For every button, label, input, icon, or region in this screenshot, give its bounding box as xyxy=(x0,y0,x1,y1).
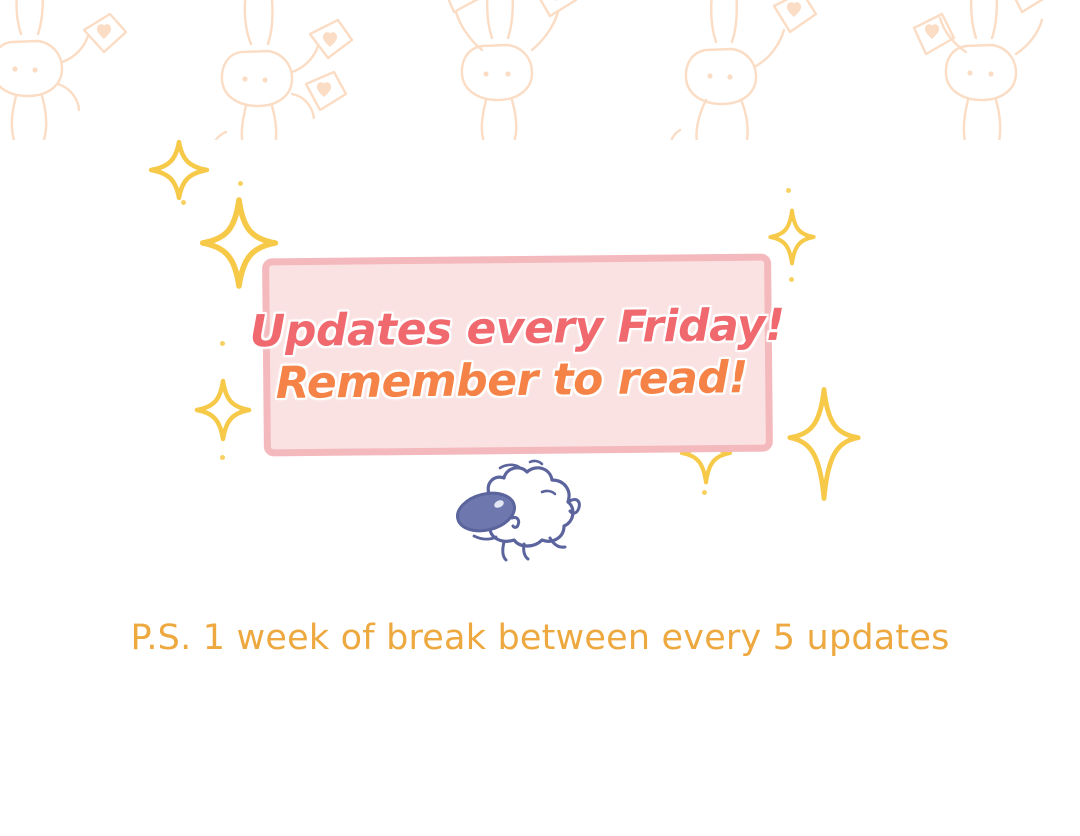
bunny-icon xyxy=(416,0,592,140)
bunny-icon xyxy=(188,0,364,140)
banner-headline-primary: Updates every Friday! xyxy=(249,301,785,358)
sparkle-dot xyxy=(238,181,243,186)
banner-text-group: Updates every Friday! Remember to read! xyxy=(262,253,773,457)
bunny-icon xyxy=(0,0,134,140)
bunny-icon xyxy=(650,0,826,140)
sparkle-dot xyxy=(789,277,794,282)
sparkle-star-icon xyxy=(148,139,210,201)
sparkle-dot xyxy=(220,455,225,460)
sparkle-dot xyxy=(786,188,791,193)
postscript-note: P.S. 1 week of break between every 5 upd… xyxy=(0,618,1080,658)
sparkle-dot xyxy=(181,200,186,205)
announcement-banner: Updates every Friday! Remember to read! xyxy=(263,256,772,454)
sparkle-star-icon xyxy=(194,378,252,442)
sparkle-star-icon xyxy=(768,208,816,266)
bunny-icon xyxy=(896,0,1072,140)
sparkle-dot xyxy=(220,341,225,346)
sheep-doodle-icon xyxy=(444,452,592,564)
bunny-pattern-strip xyxy=(0,0,1080,140)
banner-headline-secondary: Remember to read! xyxy=(275,353,748,409)
sparkle-star-icon xyxy=(786,385,862,503)
sparkle-dot xyxy=(702,490,707,495)
announcement-card: Updates every Friday! Remember to read! xyxy=(0,0,1080,836)
